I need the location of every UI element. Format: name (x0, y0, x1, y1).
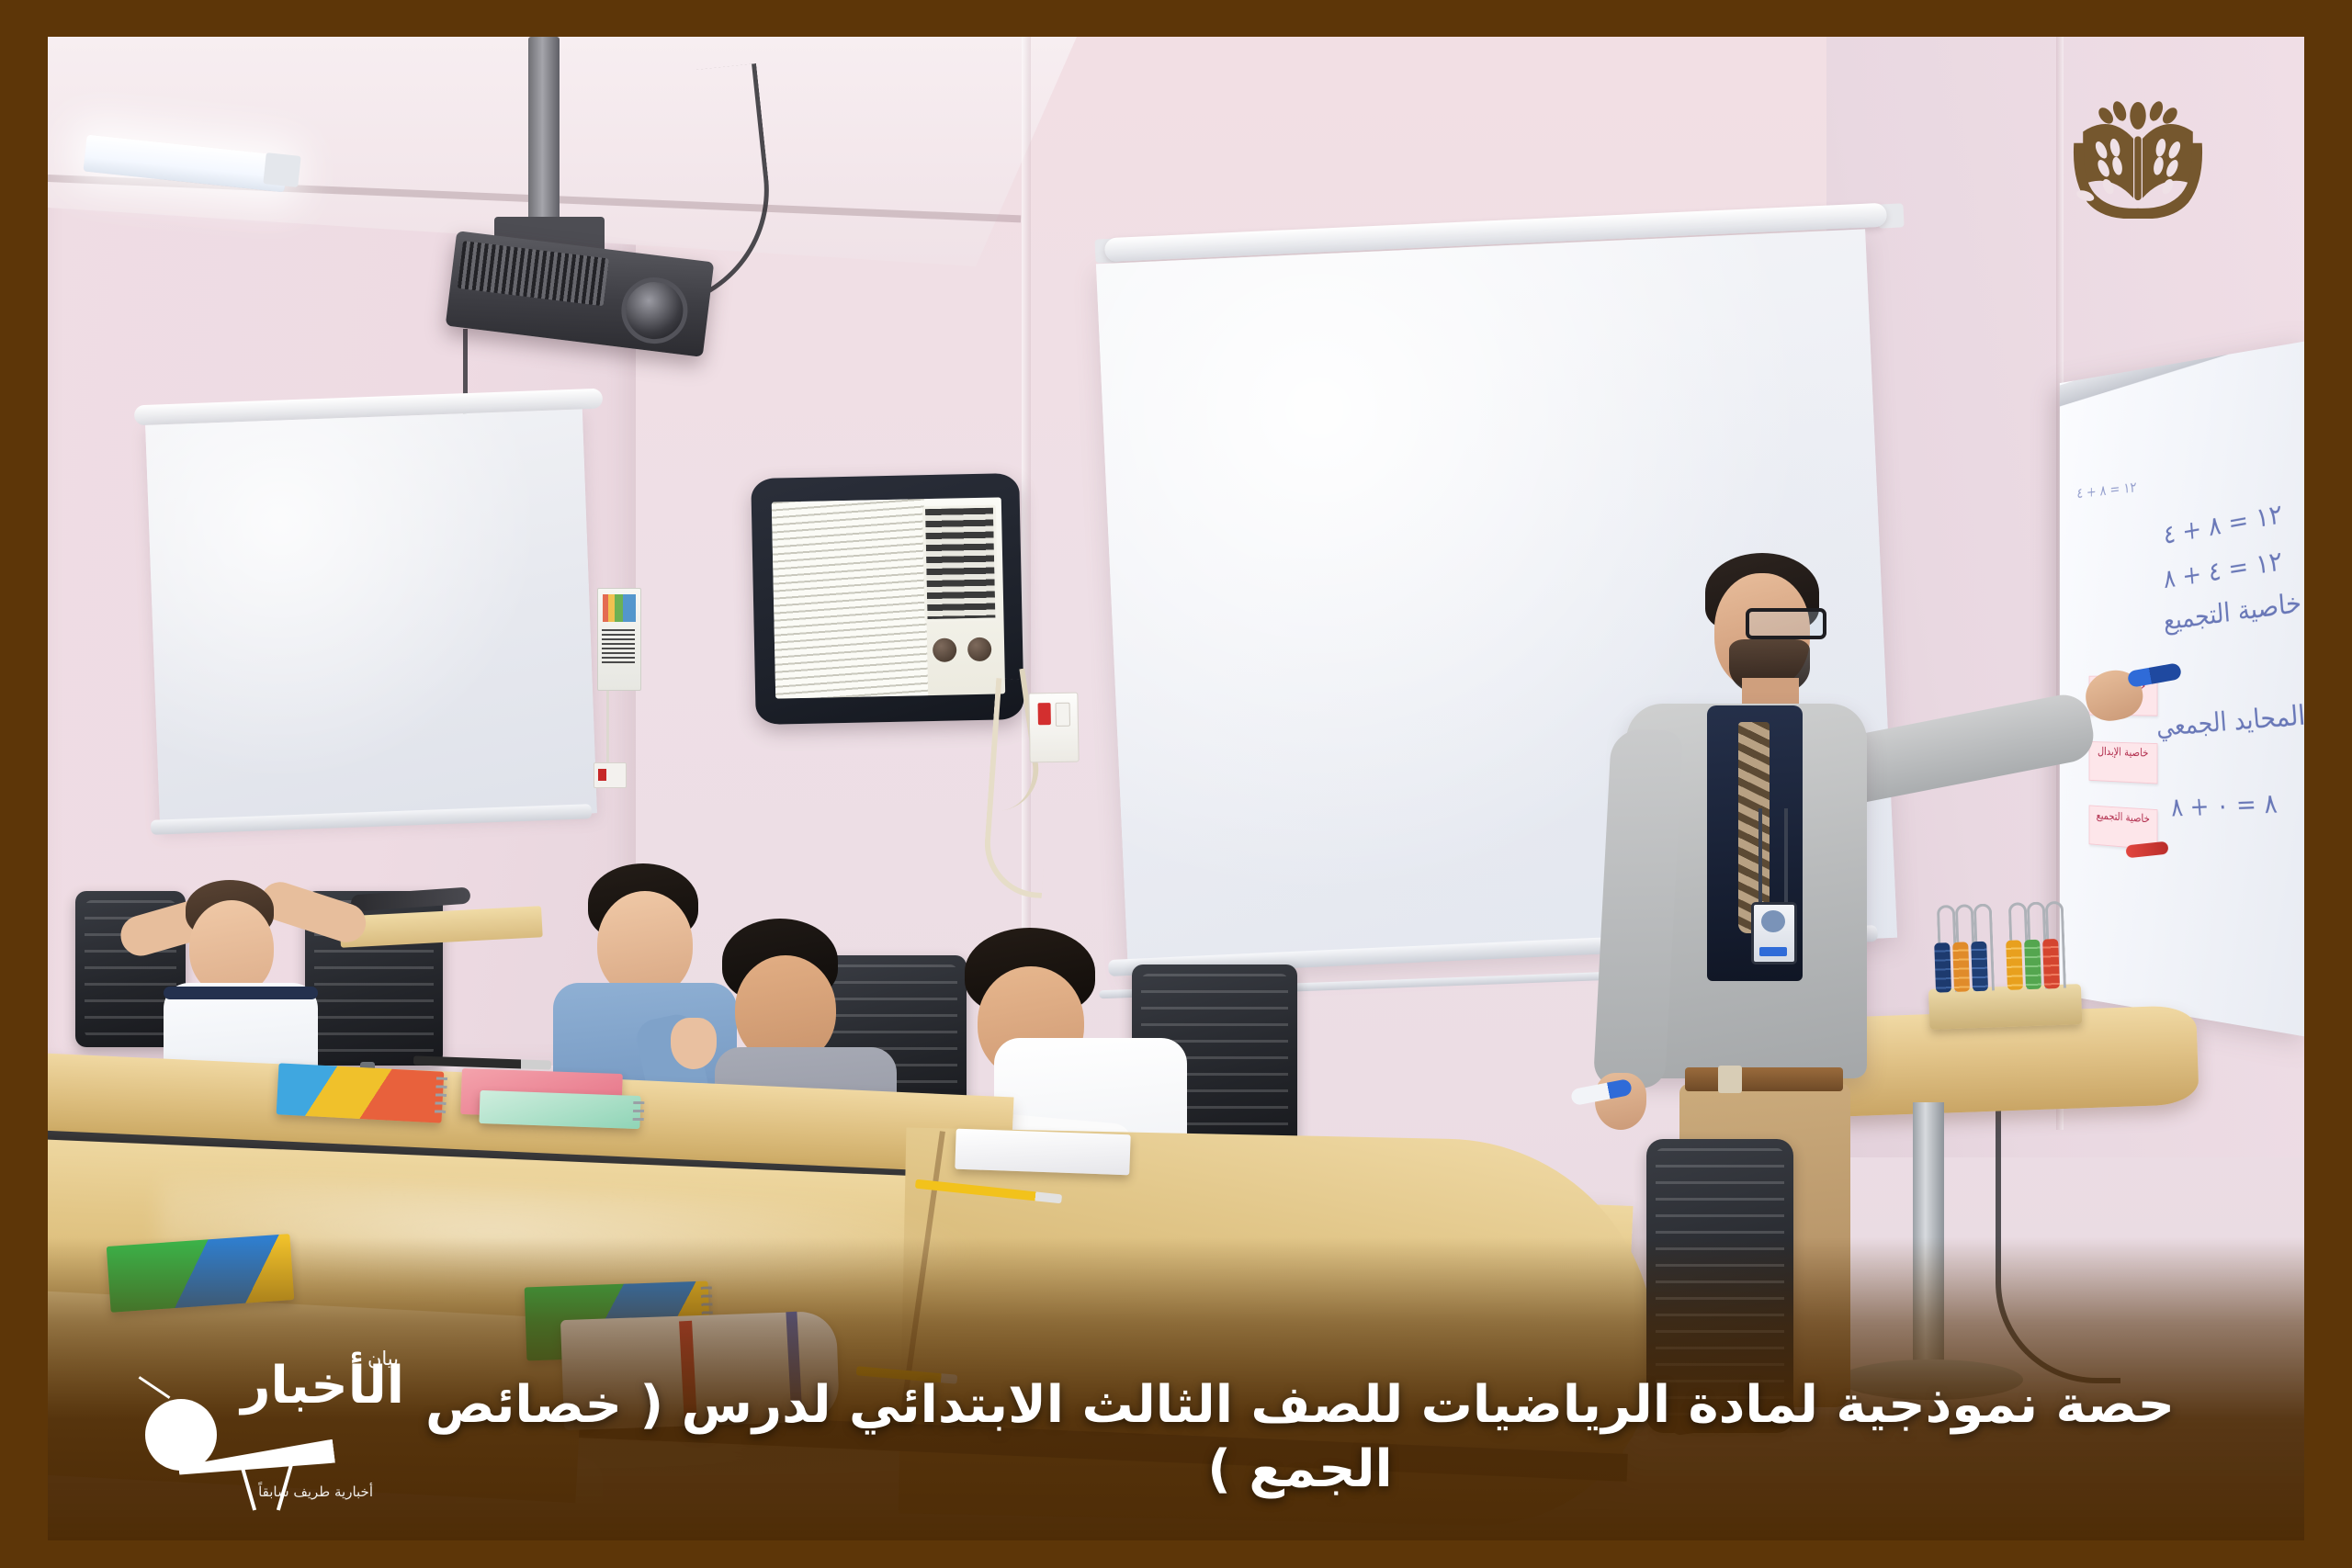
whiteboard-text: ١٢ = ٨ + ٤ (2163, 499, 2283, 551)
teacher-belt (1685, 1067, 1843, 1091)
ac-grille (772, 499, 928, 698)
textbook[interactable] (107, 1234, 295, 1313)
ac-vent (922, 505, 999, 623)
sticky-note: خاصية الإبدال (2089, 741, 2158, 784)
classroom-photo: ١٢ = ٨ + ٤ ١٢ = ٨ + ٤ ١٢ = ٤ + ٨ خاصية ا… (48, 37, 2304, 1540)
table-cable (1996, 1093, 2120, 1383)
whiteboard-text: المحايد الجمعي (2155, 700, 2304, 743)
wall-notice-card (597, 588, 641, 691)
whiteboard-text: ٨ = ٠ + ٨ (2170, 788, 2278, 823)
wall-cable (606, 691, 618, 773)
open-book-tree-logo-icon (2069, 97, 2207, 219)
projector-vents (458, 241, 609, 306)
moon-icon (145, 1399, 217, 1471)
light-switch-box[interactable] (1028, 693, 1079, 763)
logo-tagline: أخبارية طريف سابقاً (258, 1483, 373, 1500)
belt-buckle (1718, 1066, 1742, 1093)
ac-body (772, 497, 1005, 698)
wall-card-barcode (602, 629, 635, 666)
ac-knobs[interactable] (933, 637, 998, 670)
photo-card-frame: ١٢ = ٨ + ٤ ١٢ = ٨ + ٤ ١٢ = ٤ + ٨ خاصية ا… (0, 0, 2352, 1568)
projector-lens-icon (617, 274, 691, 347)
whiteboard-text: ١٢ = ٤ + ٨ (2163, 546, 2283, 595)
wall-socket (594, 762, 627, 788)
glasses-icon (1746, 608, 1826, 639)
textbook[interactable] (277, 1063, 445, 1122)
outlet-logo: بيان الأخبار أخبارية طريف سابقاً (138, 1360, 404, 1498)
whiteboard-text: خاصية التجميع (2163, 587, 2302, 637)
logo-name: الأخبار (241, 1362, 404, 1410)
caption-text: حصة نموذجية لمادة الرياضيات للصف الثالث … (351, 1373, 2249, 1502)
whiteboard-text: ١٢ = ٨ + ٤ (2077, 479, 2137, 502)
fluorescent-light-cap (263, 152, 300, 187)
lanyard (1758, 808, 1788, 909)
air-conditioner (751, 473, 1024, 725)
wall-card-colorbar (603, 594, 636, 622)
notebook[interactable] (479, 1090, 640, 1129)
logo-ray (139, 1376, 171, 1399)
notebook[interactable] (955, 1129, 1130, 1176)
id-badge (1751, 902, 1797, 964)
projection-screen-left (147, 397, 590, 847)
screen-cloth (145, 409, 597, 829)
